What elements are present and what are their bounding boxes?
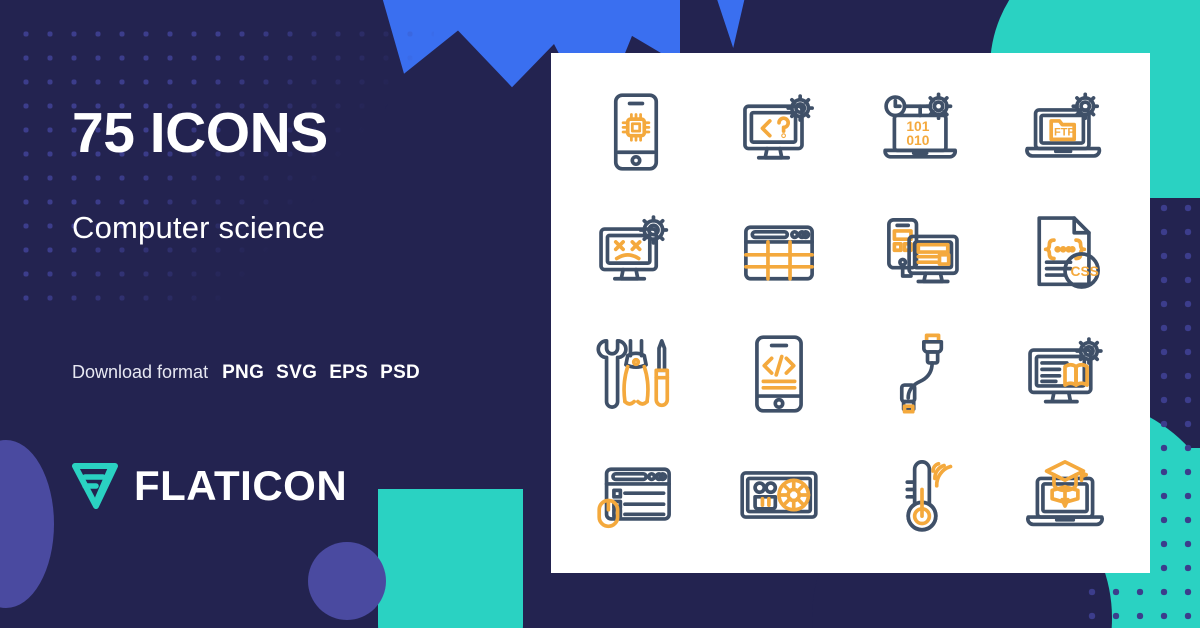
monitor-ebook-gear-icon [1019, 328, 1111, 420]
online-graduation-laptop-icon [1019, 449, 1111, 541]
css-file-icon: CSS [1019, 207, 1111, 299]
download-format-label: Download format [72, 362, 208, 383]
icon-cell-smart-thermometer-wifi-icon[interactable] [851, 434, 994, 555]
icon-cell-browser-table-grid-icon[interactable] [708, 192, 851, 313]
page-title: 75 ICONS [72, 100, 328, 166]
icon-preview-card: 101 010 [551, 53, 1150, 573]
format-list: PNG SVG EPS PSD [222, 362, 420, 384]
icon-cell-monitor-error-face-gear-icon[interactable] [565, 192, 708, 313]
icon-cell-responsive-design-icon[interactable] [851, 192, 994, 313]
icon-cell-css-file-icon[interactable]: CSS [993, 192, 1136, 313]
pack-subtitle: Computer science [72, 210, 325, 246]
banner-text-column: 75 ICONS Computer science Download forma… [72, 0, 542, 628]
format-png[interactable]: PNG [222, 362, 264, 384]
smart-thermometer-wifi-icon [876, 449, 968, 541]
monitor-code-query-gear-icon [733, 86, 825, 178]
flaticon-logo[interactable]: FLATICON [72, 462, 347, 510]
icon-cell-monitor-ebook-gear-icon[interactable] [993, 313, 1136, 434]
laptop-binary-clock-gear-icon: 101 010 [876, 86, 968, 178]
icon-cell-laptop-ftp-folder-gear-icon[interactable]: FTP [993, 71, 1136, 192]
format-psd[interactable]: PSD [380, 362, 420, 384]
purple-circle-left [0, 440, 54, 608]
icon-grid: 101 010 [551, 53, 1150, 573]
icon-cell-browser-mouse-icon[interactable] [565, 434, 708, 555]
responsive-design-icon [876, 207, 968, 299]
format-eps[interactable]: EPS [329, 362, 368, 384]
monitor-error-face-gear-icon [590, 207, 682, 299]
icon-cell-laptop-binary-clock-gear-icon[interactable]: 101 010 [851, 71, 994, 192]
flaticon-f-triangle-icon [72, 462, 118, 510]
icon-cell-mobile-app-code-icon[interactable] [708, 313, 851, 434]
icon-cell-monitor-code-query-gear-icon[interactable] [708, 71, 851, 192]
download-format-row: Download format PNG SVG EPS PSD [72, 362, 420, 384]
icon-cell-smartphone-chip-icon[interactable] [565, 71, 708, 192]
laptop-ftp-folder-gear-icon: FTP [1019, 86, 1111, 178]
icon-cell-usb-cable-icon[interactable] [851, 313, 994, 434]
svg-text:CSS: CSS [1070, 264, 1098, 279]
icon-cell-online-graduation-laptop-icon[interactable] [993, 434, 1136, 555]
icon-cell-power-supply-unit-icon[interactable] [708, 434, 851, 555]
tools-wrench-pliers-screwdriver-icon [590, 328, 682, 420]
usb-cable-icon [876, 328, 968, 420]
flaticon-wordmark: FLATICON [134, 462, 347, 510]
svg-text:101: 101 [906, 119, 929, 134]
mobile-app-code-icon [733, 328, 825, 420]
format-svg[interactable]: SVG [276, 362, 317, 384]
power-supply-unit-icon [733, 449, 825, 541]
banner-stage: 75 ICONS Computer science Download forma… [0, 0, 1200, 628]
icon-cell-tools-wrench-pliers-screwdriver-icon[interactable] [565, 313, 708, 434]
browser-table-grid-icon [733, 207, 825, 299]
smartphone-chip-icon [590, 86, 682, 178]
browser-mouse-icon [590, 449, 682, 541]
svg-text:010: 010 [906, 132, 929, 147]
svg-text:FTP: FTP [1054, 126, 1075, 138]
